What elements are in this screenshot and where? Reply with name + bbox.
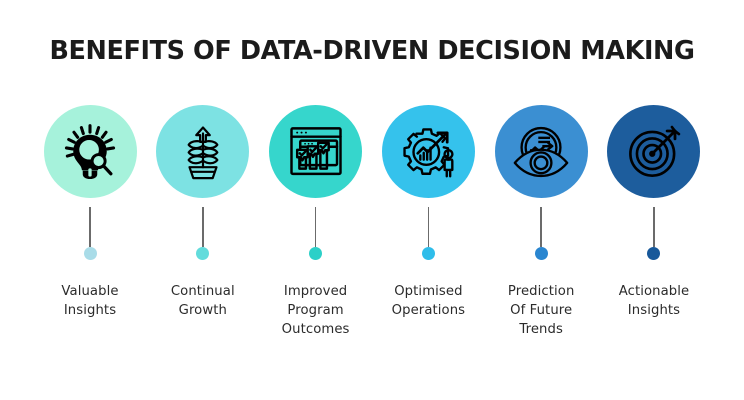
label-line: Actionable bbox=[619, 282, 690, 301]
benefit-label-3: Improved Program Outcomes bbox=[282, 282, 350, 339]
icon-circle-6[interactable] bbox=[607, 105, 700, 198]
benefit-label-6: Actionable Insights bbox=[619, 282, 690, 320]
label-line: Outcomes bbox=[282, 320, 350, 339]
label-line: Improved bbox=[282, 282, 350, 301]
connector-line-4 bbox=[428, 207, 430, 247]
connector-dot-1 bbox=[84, 247, 97, 260]
icon-circle-5[interactable] bbox=[495, 105, 588, 198]
label-line: Trends bbox=[508, 320, 575, 339]
icon-circle-2[interactable] bbox=[156, 105, 249, 198]
label-line: Continual bbox=[171, 282, 235, 301]
connector-line-2 bbox=[202, 207, 204, 247]
target-arrow-bullseye-icon bbox=[626, 124, 682, 180]
icon-circle-1[interactable] bbox=[44, 105, 137, 198]
label-line: Optimised bbox=[392, 282, 466, 301]
benefit-item-prediction-of-future-trends[interactable]: Prediction Of Future Trends bbox=[487, 105, 595, 339]
connector-dot-2 bbox=[196, 247, 209, 260]
label-line: Growth bbox=[171, 301, 235, 320]
benefit-label-2: Continual Growth bbox=[171, 282, 235, 320]
potted-plant-growth-arrow-icon bbox=[176, 123, 230, 181]
benefits-list: Valuable Insights bbox=[36, 105, 708, 339]
page-title: BENEFITS OF DATA-DRIVEN DECISION MAKING bbox=[0, 36, 744, 66]
connector-line-1 bbox=[89, 207, 91, 247]
lightbulb-magnifier-icon bbox=[61, 123, 119, 181]
label-line: Valuable bbox=[61, 282, 118, 301]
benefit-item-optimised-operations[interactable]: Optimised Operations bbox=[374, 105, 482, 320]
label-line: Insights bbox=[619, 301, 690, 320]
label-line: Prediction bbox=[508, 282, 575, 301]
label-line: Program bbox=[282, 301, 350, 320]
label-line: Of Future bbox=[508, 301, 575, 320]
connector-line-3 bbox=[315, 207, 317, 247]
benefit-label-5: Prediction Of Future Trends bbox=[508, 282, 575, 339]
connector-dot-5 bbox=[535, 247, 548, 260]
connector-dot-3 bbox=[309, 247, 322, 260]
icon-circle-3[interactable] bbox=[269, 105, 362, 198]
icon-circle-4[interactable] bbox=[382, 105, 475, 198]
benefit-item-actionable-insights[interactable]: Actionable Insights bbox=[600, 105, 708, 320]
connector-line-5 bbox=[540, 207, 542, 247]
benefit-label-1: Valuable Insights bbox=[61, 282, 118, 320]
benefit-label-4: Optimised Operations bbox=[392, 282, 466, 320]
connector-dot-4 bbox=[422, 247, 435, 260]
eye-forecast-chart-icon bbox=[512, 124, 570, 180]
browser-checklist-barchart-icon bbox=[288, 124, 344, 180]
label-line: Operations bbox=[392, 301, 466, 320]
benefit-item-valuable-insights[interactable]: Valuable Insights bbox=[36, 105, 144, 320]
benefit-item-continual-growth[interactable]: Continual Growth bbox=[149, 105, 257, 320]
connector-line-6 bbox=[653, 207, 655, 247]
label-line: Insights bbox=[61, 301, 118, 320]
benefit-item-improved-program-outcomes[interactable]: Improved Program Outcomes bbox=[262, 105, 370, 339]
gear-growth-arrow-person-icon bbox=[399, 124, 457, 180]
connector-dot-6 bbox=[647, 247, 660, 260]
infographic-canvas: BENEFITS OF DATA-DRIVEN DECISION MAKING bbox=[0, 0, 744, 400]
